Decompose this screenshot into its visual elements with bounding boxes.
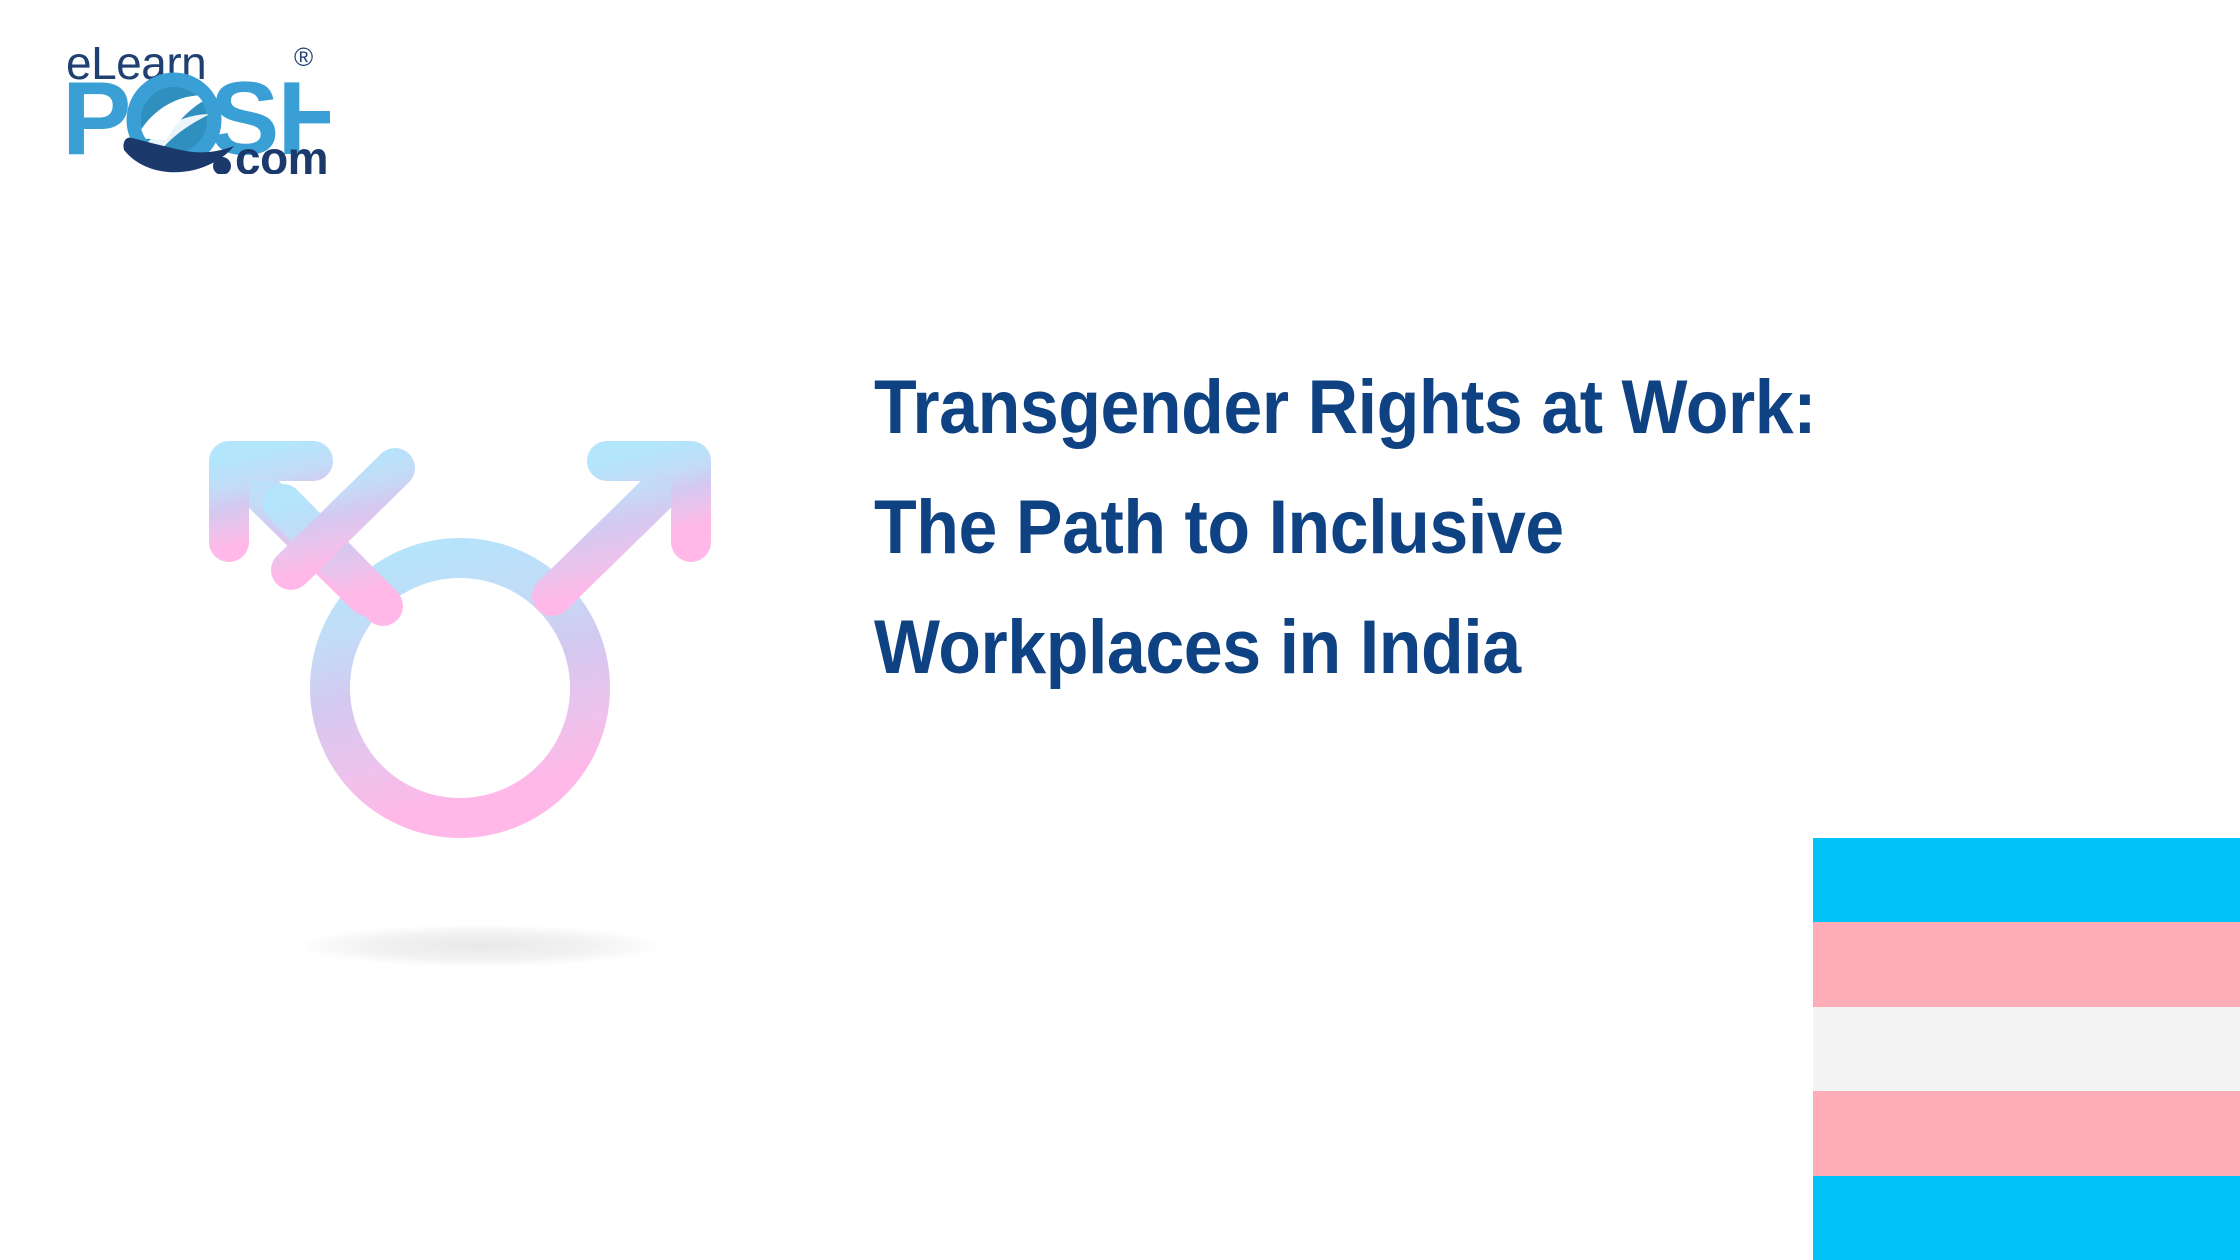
flag-stripe-4 [1813,1091,2240,1175]
page-canvas: eLearn ® P SH com [0,0,2240,1260]
logo-posh-p: P [62,61,129,174]
flag-stripe-1 [1813,838,2240,922]
elearnposh-logo[interactable]: eLearn ® P SH com [62,34,330,174]
flag-stripe-3 [1813,1007,2240,1091]
logo-com-text: com [235,132,328,174]
transgender-pride-flag [1813,838,2240,1260]
title-line-2: The Path to Inclusive [874,468,2006,588]
flag-stripe-2 [1813,922,2240,1006]
flag-stripe-5 [1813,1176,2240,1260]
title-line-1: Transgender Rights at Work: [874,348,2006,468]
page-title: Transgender Rights at Work: The Path to … [874,348,2104,708]
title-line-3: Workplaces in India [874,588,2006,708]
transgender-symbol-icon [175,318,745,968]
symbol-right-arrow-shaft [552,466,685,596]
